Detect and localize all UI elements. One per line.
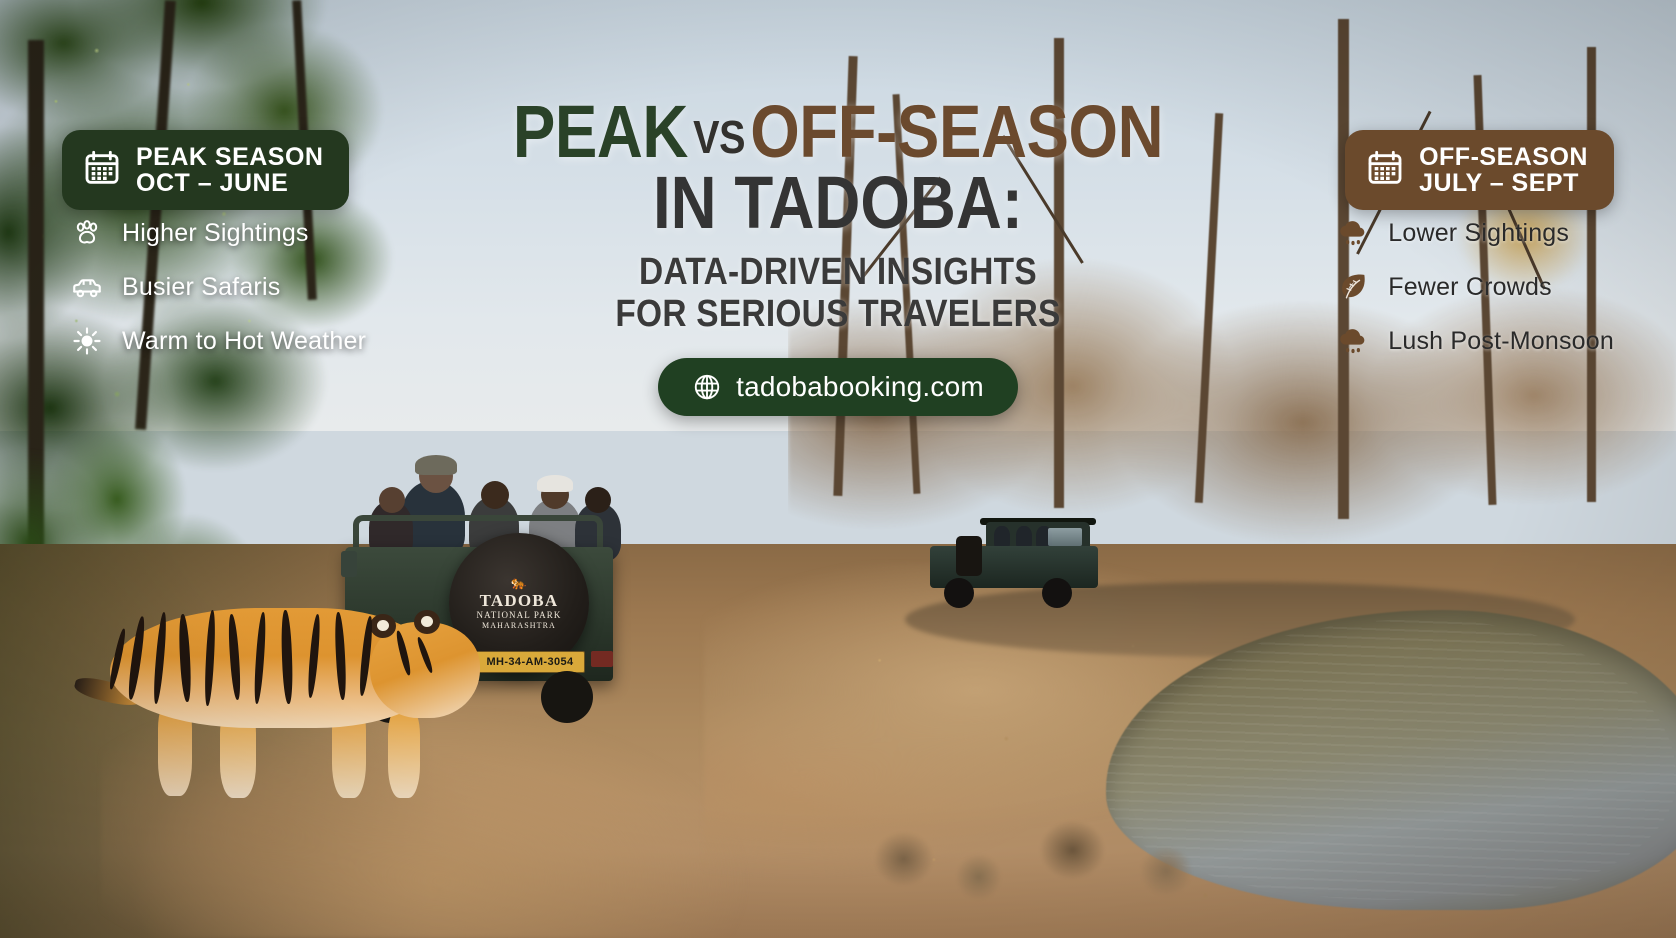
headline-line1: PEAKVSOFF-SEASON [117, 96, 1558, 167]
headline-block: PEAKVSOFF-SEASON IN TADOBA: DATA-DRIVEN … [0, 96, 1676, 416]
website-url-text: tadobabooking.com [736, 371, 984, 403]
website-url-pill[interactable]: tadobabooking.com [658, 358, 1018, 416]
subtitle-line1: DATA-DRIVEN INSIGHTS [101, 251, 1576, 294]
overlay-content: PEAK SEASON OCT – JUNE [0, 0, 1676, 938]
infographic-banner: 🐅 TADOBA NATIONAL PARK MAHARASHTRA MH-34… [0, 0, 1676, 938]
globe-icon [692, 372, 722, 402]
subtitle-line2: FOR SERIOUS TRAVELERS [101, 293, 1576, 336]
headline-line2: IN TADOBA: [117, 165, 1558, 240]
headline-vs: VS [688, 111, 750, 163]
